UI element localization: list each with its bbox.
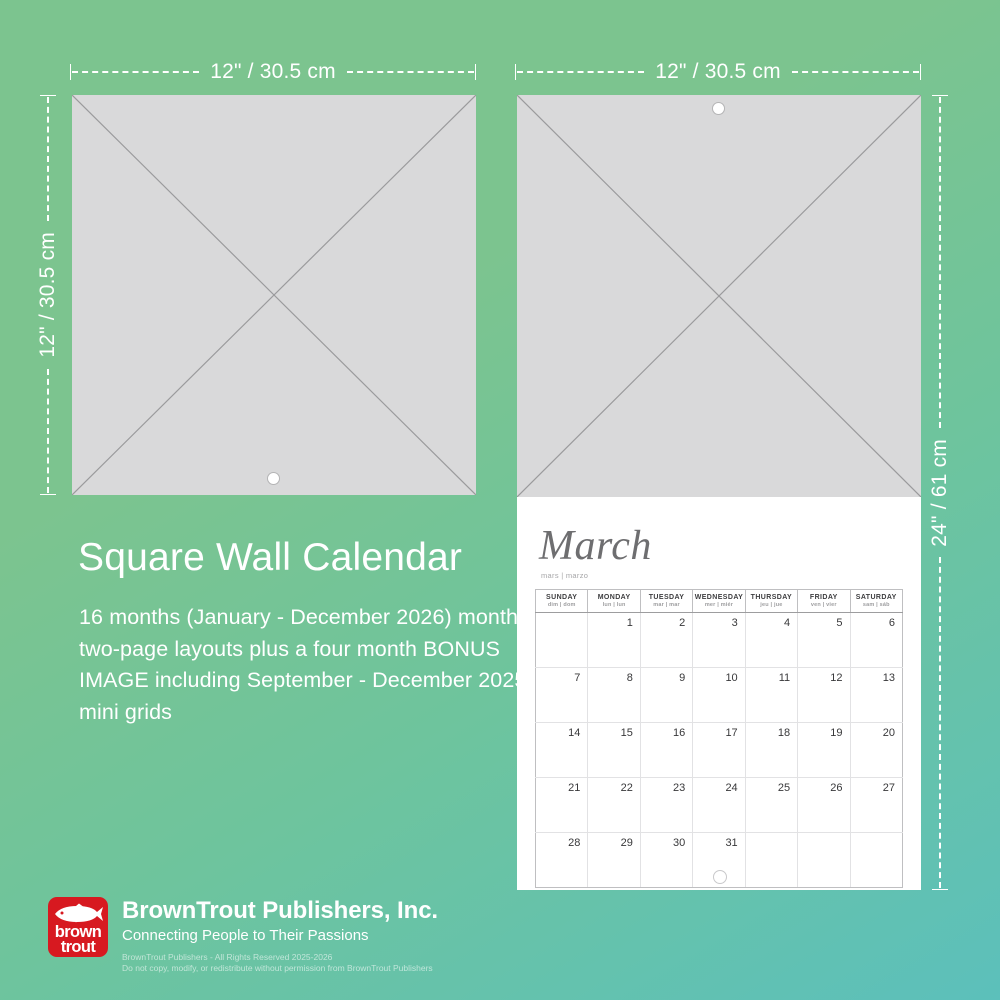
calendar-day-cell[interactable]: 13 — [850, 668, 902, 723]
calendar-day-cell[interactable]: 8 — [588, 668, 640, 723]
dimension-label-top-left: 12" / 30.5 cm — [200, 60, 346, 84]
calendar-day-cell[interactable] — [850, 833, 902, 888]
weekday-name-alt: mer | miér — [693, 602, 744, 608]
publisher-name: BrownTrout Publishers, Inc. — [122, 898, 438, 925]
dimension-rule-top-right: 12" / 30.5 cm — [515, 60, 921, 84]
placeholder-cross-icon — [72, 95, 476, 495]
rule-cap-bottom — [40, 494, 56, 495]
calendar-week-row: 14 15 16 17 18 19 20 — [536, 723, 903, 778]
browntrout-logo: brown trout — [48, 897, 108, 957]
hole-punch — [713, 103, 724, 114]
calendar-grid-page: March mars | marzo SUNDAY dim | dom MOND… — [517, 497, 921, 890]
rule-dash-right — [347, 71, 474, 73]
dimension-label-top-right: 12" / 30.5 cm — [645, 60, 791, 84]
calendar-day-cell[interactable]: 15 — [588, 723, 640, 778]
calendar-day-cell[interactable]: 17 — [693, 723, 745, 778]
dimension-label-right-height: 24" / 61 cm — [928, 429, 952, 557]
weekday-name: WEDNESDAY — [693, 594, 744, 601]
calendar-day-cell[interactable]: 14 — [536, 723, 588, 778]
calendar-day-cell[interactable] — [745, 833, 797, 888]
rule-dash-bottom — [939, 557, 941, 888]
calendar-day-cell[interactable] — [798, 833, 850, 888]
legal-line-2: Do not copy, modify, or redistribute wit… — [122, 963, 438, 974]
calendar-day-cell[interactable]: 18 — [745, 723, 797, 778]
rule-cap-bottom — [932, 889, 948, 890]
weekday-header-monday: MONDAY lun | lun — [588, 590, 640, 613]
dimension-rule-left-height: 12" / 30.5 cm — [34, 95, 62, 495]
calendar-day-cell[interactable]: 1 — [588, 613, 640, 668]
calendar-month-title: March — [539, 525, 921, 567]
calendar-day-cell[interactable]: 29 — [588, 833, 640, 888]
legal-line-1: BrownTrout Publishers - All Rights Reser… — [122, 952, 438, 963]
calendar-day-cell[interactable]: 22 — [588, 778, 640, 833]
hole-punch-outline — [713, 870, 727, 884]
calendar-day-cell[interactable]: 6 — [850, 613, 902, 668]
weekday-name-alt: sam | sáb — [851, 602, 902, 608]
calendar-day-cell[interactable]: 11 — [745, 668, 797, 723]
product-description: 16 months (January - December 2026) mont… — [79, 602, 549, 728]
weekday-name: MONDAY — [588, 594, 639, 601]
closed-calendar-panel — [72, 95, 476, 495]
calendar-day-cell[interactable]: 19 — [798, 723, 850, 778]
calendar-day-cell[interactable]: 9 — [640, 668, 692, 723]
calendar-day-cell[interactable]: 4 — [745, 613, 797, 668]
hole-punch — [268, 473, 279, 484]
calendar-weekday-header-row: SUNDAY dim | dom MONDAY lun | lun TUESDA… — [536, 590, 903, 613]
calendar-week-row: 21 22 23 24 25 26 27 — [536, 778, 903, 833]
page-title: Square Wall Calendar — [78, 537, 462, 580]
calendar-day-cell[interactable]: 27 — [850, 778, 902, 833]
weekday-header-friday: FRIDAY ven | vier — [798, 590, 850, 613]
calendar-day-cell[interactable]: 2 — [640, 613, 692, 668]
calendar-day-cell[interactable]: 25 — [745, 778, 797, 833]
weekday-name: SATURDAY — [851, 594, 902, 601]
calendar-day-cell[interactable]: 21 — [536, 778, 588, 833]
dimension-rule-top-left: 12" / 30.5 cm — [70, 60, 476, 84]
rule-dash-bottom — [47, 369, 49, 493]
calendar-day-cell[interactable]: 10 — [693, 668, 745, 723]
placeholder-cross-icon — [517, 95, 921, 497]
calendar-day-cell[interactable]: 3 — [693, 613, 745, 668]
calendar-grid-body: 1 2 3 4 5 6 7 8 9 10 11 12 13 14 15 16 1… — [536, 613, 903, 888]
calendar-month-subtitle: mars | marzo — [541, 571, 921, 580]
calendar-day-cell[interactable]: 28 — [536, 833, 588, 888]
weekday-name-alt: jeu | jue — [746, 602, 797, 608]
legal-notice: BrownTrout Publishers - All Rights Reser… — [122, 952, 438, 974]
weekday-name-alt: ven | vier — [798, 602, 849, 608]
open-calendar-image-panel — [517, 95, 921, 497]
rule-cap-top — [40, 95, 56, 96]
weekday-header-tuesday: TUESDAY mar | mar — [640, 590, 692, 613]
calendar-day-cell[interactable]: 16 — [640, 723, 692, 778]
weekday-name: THURSDAY — [746, 594, 797, 601]
rule-cap-left — [515, 64, 516, 80]
calendar-week-row: 7 8 9 10 11 12 13 — [536, 668, 903, 723]
footer: brown trout BrownTrout Publishers, Inc. … — [48, 897, 438, 974]
rule-cap-right — [920, 64, 921, 80]
weekday-name-alt: lun | lun — [588, 602, 639, 608]
calendar-week-row: 1 2 3 4 5 6 — [536, 613, 903, 668]
rule-dash-right — [792, 71, 919, 73]
footer-text-block: BrownTrout Publishers, Inc. Connecting P… — [122, 897, 438, 974]
calendar-day-cell[interactable]: 23 — [640, 778, 692, 833]
rule-cap-right — [475, 64, 476, 80]
rule-dash-top — [939, 97, 941, 428]
rule-cap-top — [932, 95, 948, 96]
calendar-day-cell[interactable]: 26 — [798, 778, 850, 833]
dimension-rule-right-height: 24" / 61 cm — [926, 95, 954, 890]
calendar-day-cell[interactable]: 5 — [798, 613, 850, 668]
calendar-day-cell[interactable]: 20 — [850, 723, 902, 778]
calendar-grid: SUNDAY dim | dom MONDAY lun | lun TUESDA… — [535, 589, 903, 888]
rule-dash-left — [517, 71, 644, 73]
publisher-tagline: Connecting People to Their Passions — [122, 926, 438, 946]
weekday-name-alt: mar | mar — [641, 602, 692, 608]
dimension-label-left-height: 12" / 30.5 cm — [36, 222, 60, 368]
trout-fish-icon — [52, 903, 104, 925]
weekday-header-wednesday: WEDNESDAY mer | miér — [693, 590, 745, 613]
calendar-day-cell[interactable]: 24 — [693, 778, 745, 833]
weekday-name: TUESDAY — [641, 594, 692, 601]
rule-dash-left — [72, 71, 199, 73]
weekday-name: SUNDAY — [536, 594, 587, 601]
calendar-day-cell[interactable]: 12 — [798, 668, 850, 723]
weekday-header-saturday: SATURDAY sam | sáb — [850, 590, 902, 613]
rule-cap-left — [70, 64, 71, 80]
calendar-day-cell[interactable]: 30 — [640, 833, 692, 888]
logo-word-trout: trout — [48, 939, 108, 955]
weekday-header-thursday: THURSDAY jeu | jue — [745, 590, 797, 613]
rule-dash-top — [47, 97, 49, 221]
weekday-name: FRIDAY — [798, 594, 849, 601]
